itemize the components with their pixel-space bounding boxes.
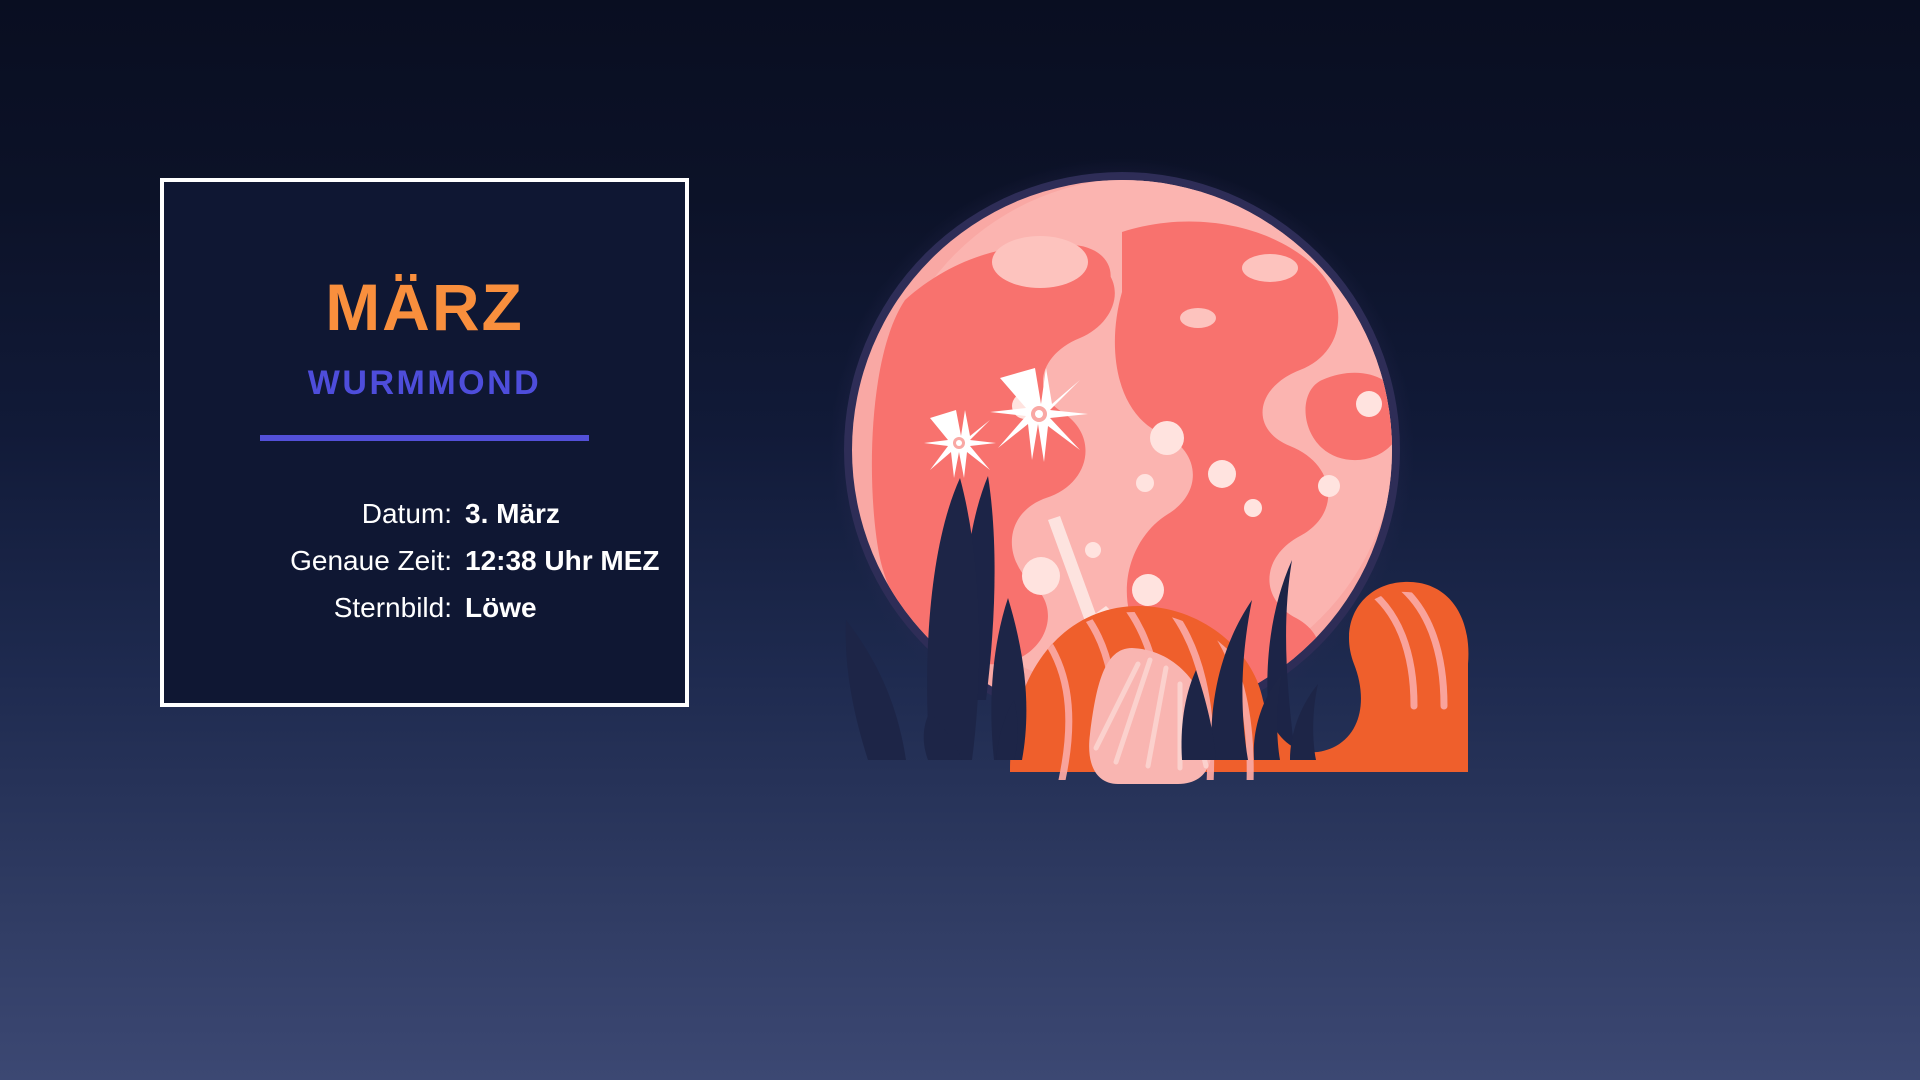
moon-info-card: MÄRZ WURMMOND Datum: 3. März Genaue Zeit… (160, 178, 689, 707)
detail-row-datum: Datum: 3. März (164, 498, 685, 530)
poster-canvas: MÄRZ WURMMOND Datum: 3. März Genaue Zeit… (0, 0, 1920, 1080)
detail-label-sternbild: Sternbild: (234, 592, 465, 624)
moon-name-title: WURMMOND (308, 366, 541, 400)
detail-label-datum: Datum: (234, 498, 465, 530)
detail-label-genaue-zeit: Genaue Zeit: (234, 545, 465, 577)
month-title: MÄRZ (325, 274, 524, 340)
detail-value-datum: 3. März (465, 498, 560, 530)
card-divider (260, 435, 589, 441)
detail-row-sternbild: Sternbild: Löwe (164, 592, 685, 624)
moon-detail-list: Datum: 3. März Genaue Zeit: 12:38 Uhr ME… (164, 498, 685, 624)
detail-row-genaue-zeit: Genaue Zeit: 12:38 Uhr MEZ (164, 545, 685, 577)
detail-value-genaue-zeit: 12:38 Uhr MEZ (465, 545, 660, 577)
detail-value-sternbild: Löwe (465, 592, 537, 624)
